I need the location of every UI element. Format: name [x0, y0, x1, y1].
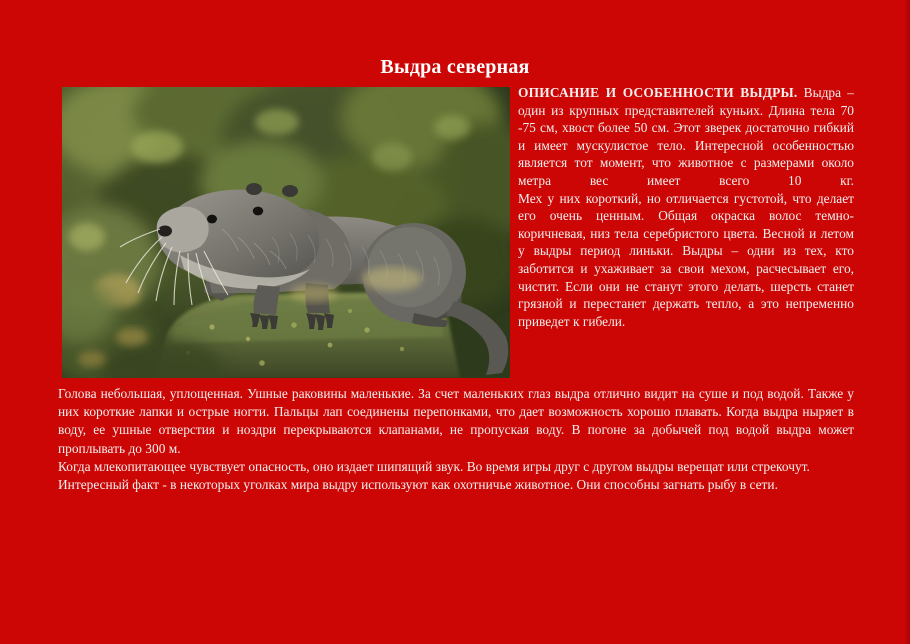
page-title: Выдра северная — [0, 55, 910, 79]
description-heading: ОПИСАНИЕ И ОСОБЕННОСТИ ВЫДРЫ. — [518, 85, 797, 100]
body-column: Голова небольшая, уплощенная. Ушные рако… — [58, 385, 854, 494]
description-paragraph-1: ОПИСАНИЕ И ОСОБЕННОСТИ ВЫДРЫ. Выдра – од… — [518, 84, 854, 190]
right-edge-shading — [904, 0, 910, 644]
body-paragraph-1: Голова небольшая, уплощенная. Ушные рако… — [58, 385, 854, 458]
otter-photo — [62, 87, 510, 378]
body-paragraph-3: Интересный факт - в некоторых уголках ми… — [58, 476, 854, 494]
body-paragraph-2: Когда млекопитающее чувствует опасность,… — [58, 458, 854, 476]
description-paragraph-1-text: Выдра – один из крупных представителей к… — [518, 85, 854, 188]
description-paragraph-2: Мех у них короткий, но отличается густот… — [518, 190, 854, 331]
document-page: Выдра северная — [0, 0, 910, 644]
description-column: ОПИСАНИЕ И ОСОБЕННОСТИ ВЫДРЫ. Выдра – од… — [518, 84, 854, 330]
otter-photo-illustration — [62, 87, 510, 378]
